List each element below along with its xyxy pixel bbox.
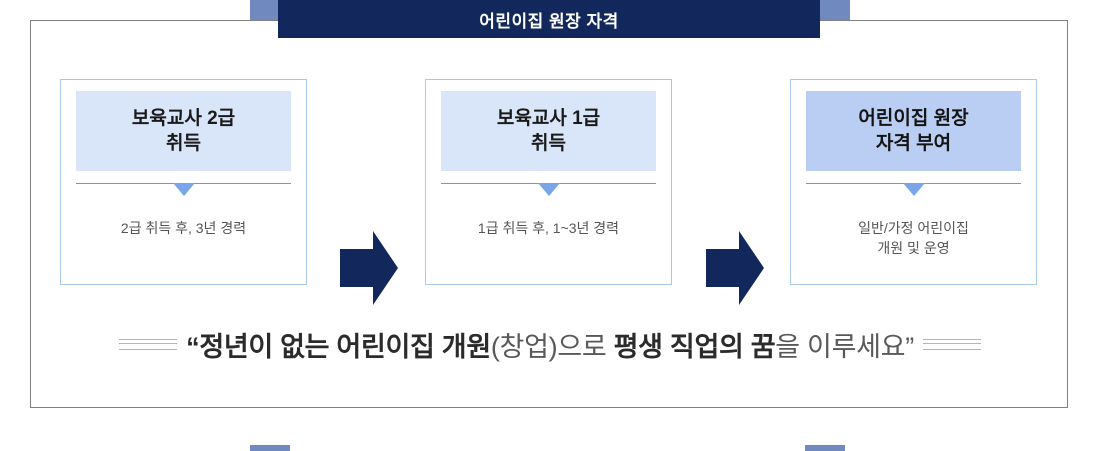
step-heading-line2: 취득 <box>166 131 201 156</box>
triangle-down-icon <box>538 183 560 196</box>
tagline-light-2: 으로 <box>557 332 613 362</box>
step-heading: 보육교사 1급 취득 <box>441 91 656 171</box>
decor-tab-bottom-left <box>250 445 290 451</box>
step-subtitle: 1급 취득 후, 1~3년 경력 <box>436 218 661 238</box>
step-heading-line2: 취득 <box>531 131 566 156</box>
decor-rule-right <box>923 339 981 350</box>
step-heading: 어린이집 원장 자격 부여 <box>806 91 1021 171</box>
arrow-right-icon <box>340 231 398 305</box>
step-heading-line2: 자격 부여 <box>876 131 951 156</box>
step-subtitle-line1: 2급 취득 후, 3년 경력 <box>71 218 296 238</box>
tagline: “정년이 없는 어린이집 개원(창업)으로 평생 직업의 꿈을 이루세요” <box>0 316 1100 372</box>
decor-tab-bottom-right <box>805 445 845 451</box>
step-subtitle-line1: 일반/가정 어린이집 <box>801 218 1026 238</box>
process-step-card: 보육교사 1급 취득 1급 취득 후, 1~3년 경력 <box>425 79 672 285</box>
step-subtitle-line1: 1급 취득 후, 1~3년 경력 <box>436 218 661 238</box>
step-subtitle-line2: 개원 및 운영 <box>801 238 1026 258</box>
process-flow: 보육교사 2급 취득 2급 취득 후, 3년 경력 보육교사 1급 취득 <box>0 79 1100 285</box>
tagline-bold-1: 정년이 없는 어린이집 개원 <box>199 332 491 362</box>
step-heading: 보육교사 2급 취득 <box>76 91 291 171</box>
decor-tab-top-right <box>820 0 850 20</box>
arrow-right-icon <box>706 231 764 305</box>
decor-rule-left <box>119 339 177 350</box>
triangle-down-icon <box>903 183 925 196</box>
tagline-text: “정년이 없는 어린이집 개원(창업)으로 평생 직업의 꿈을 이루세요” <box>186 325 914 364</box>
step-heading-line1: 보육교사 1급 <box>497 106 600 131</box>
step-subtitle: 2급 취득 후, 3년 경력 <box>71 218 296 238</box>
tagline-light-1: (창업) <box>491 332 557 362</box>
step-heading-line1: 어린이집 원장 <box>858 106 968 131</box>
banner-title: 어린이집 원장 자격 <box>278 0 820 38</box>
step-subtitle: 일반/가정 어린이집 개원 및 운영 <box>801 218 1026 259</box>
infographic-canvas: 어린이집 원장 자격 보육교사 2급 취득 2급 취득 후, 3년 경력 보육교 <box>0 0 1100 451</box>
step-heading-line1: 보육교사 2급 <box>132 106 235 131</box>
process-step-card: 보육교사 2급 취득 2급 취득 후, 3년 경력 <box>60 79 307 285</box>
tagline-quote-open: “ <box>186 332 199 362</box>
tagline-bold-2: 평생 직업의 꿈 <box>614 332 776 362</box>
tagline-light-3: 을 이루세요 <box>775 332 905 362</box>
tagline-quote-close: ” <box>905 332 914 362</box>
process-step-card: 어린이집 원장 자격 부여 일반/가정 어린이집 개원 및 운영 <box>790 79 1037 285</box>
triangle-down-icon <box>173 183 195 196</box>
